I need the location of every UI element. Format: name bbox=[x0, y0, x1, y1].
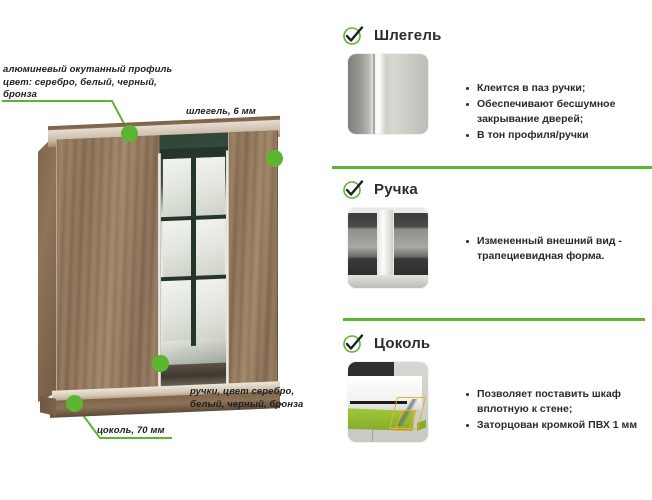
feature-body-shlegel: Клеится в паз ручки; Обеспечивают бесшум… bbox=[330, 54, 652, 144]
wardrobe-handle-right bbox=[226, 150, 229, 386]
check-circle-icon bbox=[342, 24, 364, 46]
wardrobe-side-plinth bbox=[40, 396, 56, 416]
list-item: Измененный внешний вид - трапециевидная … bbox=[466, 234, 646, 264]
callout-label-shlegel: шлегель, 6 мм bbox=[186, 106, 316, 119]
feature-bullets-shlegel: Клеится в паз ручки; Обеспечивают бесшум… bbox=[428, 54, 652, 144]
feature-body-ruchka: Измененный внешний вид - трапециевидная … bbox=[330, 208, 652, 288]
shlegel-photo bbox=[348, 54, 428, 134]
mirror-pane bbox=[163, 280, 191, 341]
section-divider bbox=[332, 166, 652, 169]
list-item: Заторцован кромкой ПВХ 1 мм bbox=[466, 418, 646, 433]
feature-section-ruchka: Ручка Измененный внешний вид - трапециев… bbox=[330, 176, 652, 313]
feature-title-shlegel: Шлегель bbox=[374, 27, 442, 44]
list-item: Клеится в паз ручки; bbox=[466, 81, 646, 96]
feature-bullets-ruchka: Измененный внешний вид - трапециевидная … bbox=[428, 208, 652, 265]
mirror-mullion-vertical bbox=[191, 148, 196, 346]
wardrobe-door-mirror bbox=[160, 132, 228, 391]
ruchka-photo-door-right bbox=[394, 213, 428, 275]
ruchka-photo-handle-profile bbox=[377, 210, 393, 285]
ruchka-photo-door-left bbox=[348, 213, 377, 275]
list-item: Обеспечивают бесшумное закрывание дверей… bbox=[466, 97, 646, 127]
feature-header-shlegel: Шлегель bbox=[330, 22, 652, 48]
mirror-pane bbox=[196, 219, 225, 276]
list-item: Позволяет поставить шкаф вплотную к стен… bbox=[466, 387, 646, 417]
ruchka-photo bbox=[348, 208, 428, 288]
wardrobe-diagram-panel: алюминевый окутанный профиль цвет: сереб… bbox=[0, 0, 330, 500]
mirror-pane bbox=[196, 157, 225, 216]
feature-title-tsokol: Цоколь bbox=[374, 335, 430, 352]
callout-dot-shlegel bbox=[266, 150, 283, 167]
section-divider bbox=[343, 318, 645, 321]
callout-dot-plinth bbox=[66, 395, 83, 412]
feature-body-tsokol: Позволяет поставить шкаф вплотную к стен… bbox=[330, 362, 652, 442]
feature-header-ruchka: Ручка bbox=[330, 176, 652, 202]
callout-dot-profile bbox=[121, 125, 138, 142]
mirror-pane bbox=[163, 220, 191, 277]
features-panel: Шлегель Клеится в паз ручки; Обеспечиваю… bbox=[330, 0, 652, 500]
tsokol-photo bbox=[348, 362, 428, 442]
tsokol-photo-floor-line bbox=[372, 424, 373, 442]
check-circle-icon bbox=[342, 332, 364, 354]
ruchka-photo-floor bbox=[348, 275, 428, 288]
feature-section-shlegel: Шлегель Клеится в паз ручки; Обеспечиваю… bbox=[330, 22, 652, 162]
shlegel-photo-seam bbox=[373, 54, 375, 134]
feature-bullets-tsokol: Позволяет поставить шкаф вплотную к стен… bbox=[428, 362, 652, 434]
wardrobe-door-frame bbox=[56, 130, 278, 395]
callout-label-plinth: цоколь, 70 мм bbox=[97, 425, 217, 438]
mirror-pane bbox=[163, 158, 191, 217]
wardrobe-door-left bbox=[56, 135, 160, 395]
mirror-pane bbox=[196, 279, 225, 340]
callout-dot-handles bbox=[152, 355, 169, 372]
callout-label-handles: ручки, цвет серебро, белый, черный, брон… bbox=[190, 386, 320, 411]
callout-label-profile: алюминевый окутанный профиль цвет: сереб… bbox=[3, 64, 183, 102]
wardrobe-door-right bbox=[228, 130, 278, 388]
feature-section-tsokol: Цоколь Позволяет поставить шкаф вплотную… bbox=[330, 330, 652, 470]
check-circle-icon bbox=[342, 178, 364, 200]
feature-title-ruchka: Ручка bbox=[374, 181, 418, 198]
feature-header-tsokol: Цоколь bbox=[330, 330, 652, 356]
list-item: В тон профиля/ручки bbox=[466, 128, 646, 143]
wardrobe-handle-left bbox=[158, 153, 161, 389]
